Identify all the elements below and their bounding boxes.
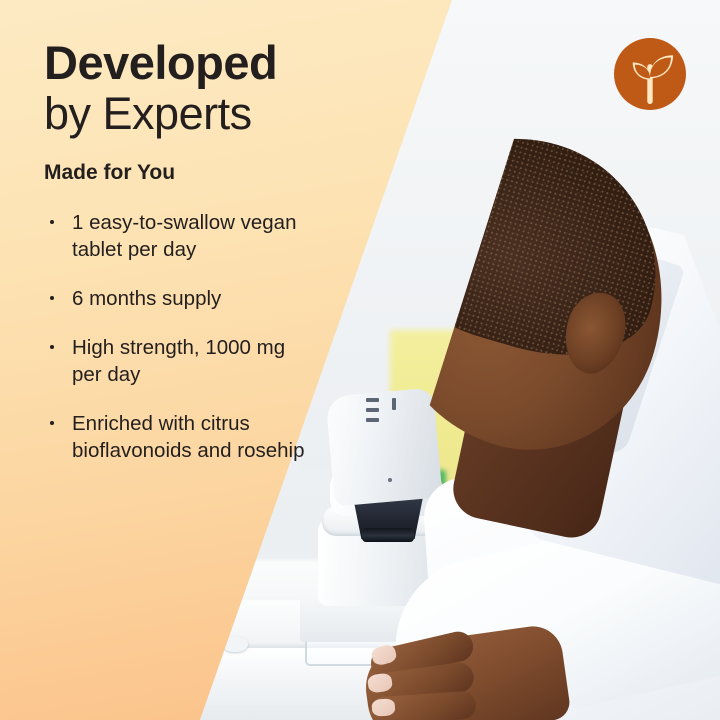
list-item: 1 easy-to-swallow vegan tablet per day: [44, 209, 317, 263]
list-item-label: Enriched with citrus bioflavonoids and r…: [72, 412, 305, 462]
microscope-marking: [366, 408, 379, 412]
list-item-label: High strength, 1000 mg per day: [72, 336, 285, 386]
subtitle: Made for You: [44, 161, 360, 185]
bullet-icon: [50, 421, 54, 425]
microscope-marking: [366, 418, 379, 422]
title-line-2: by Experts: [44, 88, 360, 139]
microscope-dot: [388, 478, 392, 482]
list-item-label: 6 months supply: [72, 287, 221, 310]
hoop-earring: [0, 482, 34, 516]
list-item: Enriched with citrus bioflavonoids and r…: [44, 410, 317, 464]
bullet-icon: [50, 345, 54, 349]
title-line-1: Developed: [44, 38, 360, 88]
bullet-icon: [50, 220, 54, 224]
sprout-leaf-icon: [614, 38, 686, 110]
list-item: High strength, 1000 mg per day: [44, 334, 317, 388]
product-feature-banner: Developed by Experts Made for You 1 easy…: [0, 0, 720, 720]
list-item: 6 months supply: [44, 285, 317, 312]
text-column: Developed by Experts Made for You 1 easy…: [0, 0, 360, 486]
small-dish: [222, 636, 248, 652]
brand-logo: [614, 38, 686, 110]
microscope-marking: [366, 398, 379, 402]
page-title: Developed by Experts: [44, 38, 360, 139]
microscope-marking: [392, 398, 396, 410]
list-item-label: 1 easy-to-swallow vegan tablet per day: [72, 211, 296, 261]
bullet-icon: [50, 296, 54, 300]
feature-list: 1 easy-to-swallow vegan tablet per day 6…: [44, 209, 360, 464]
